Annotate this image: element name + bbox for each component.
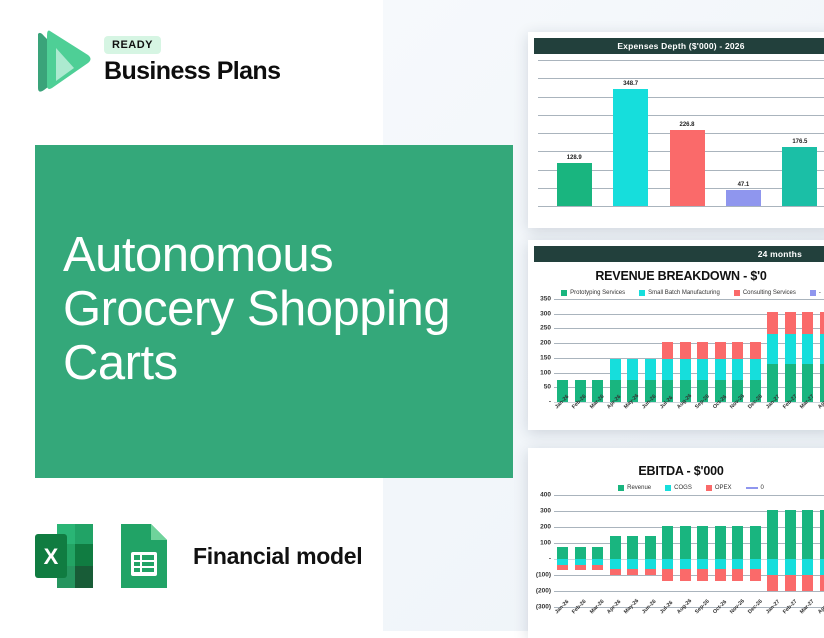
bar-segment (575, 565, 586, 570)
chart-bars (554, 299, 824, 402)
y-axis-tick: (300) (536, 604, 551, 611)
bar-value-label: 128.9 (544, 155, 604, 161)
bar-slot[interactable] (764, 495, 782, 607)
chart-title-ebitda: EBITDA - $'000 (528, 464, 824, 478)
chart-header-expenses: Expenses Depth ($'000) - 2026 (534, 38, 824, 54)
legend-swatch (561, 290, 567, 296)
y-axis-tick: 50 (544, 384, 551, 391)
legend-swatch (810, 290, 816, 296)
bar-segment (645, 569, 656, 575)
bar-segment (732, 342, 743, 360)
y-axis-tick: - (549, 556, 551, 563)
bar-segment (575, 547, 586, 559)
chart-y-axis: 400300200100-(100)(200)(300) (528, 495, 554, 607)
chart-plot-ebitda: 400300200100-(100)(200)(300) (528, 495, 824, 607)
bar-slot[interactable] (782, 495, 800, 607)
bar-slot[interactable] (554, 495, 572, 607)
bar-segment (767, 559, 778, 575)
bar-segment (627, 559, 638, 569)
bar-segment (802, 510, 813, 559)
bar-slot[interactable] (694, 495, 712, 607)
bar-segment (697, 569, 708, 581)
legend-item[interactable]: 0 (746, 485, 764, 491)
chart-header-revenue: 24 months (534, 246, 824, 262)
bar-segment (680, 569, 691, 581)
y-axis-tick: 300 (540, 508, 551, 515)
chart-card-revenue[interactable]: 24 months REVENUE BREAKDOWN - $'0 Protot… (528, 240, 824, 430)
footer-label: Financial model (193, 543, 362, 570)
bar-segment (785, 575, 796, 591)
bar-slot[interactable] (782, 299, 800, 402)
svg-text:X: X (44, 544, 59, 569)
bar-slot[interactable] (554, 299, 572, 402)
bar-slot[interactable] (747, 495, 765, 607)
bar-segment (767, 575, 778, 591)
bar-slot[interactable] (677, 299, 695, 402)
y-axis-tick: 100 (540, 369, 551, 376)
chart-legend-revenue: Prototyping ServicesSmall Batch Manufact… (528, 290, 824, 296)
bar-segment (767, 312, 778, 334)
bar-slot[interactable] (572, 299, 590, 402)
bar-segment (750, 569, 761, 581)
bar-segment (715, 526, 726, 559)
bar-slot[interactable] (799, 299, 817, 402)
y-axis-tick: (100) (536, 572, 551, 579)
bar-segment (610, 359, 621, 380)
brand-logo: READY Business Plans (30, 28, 280, 94)
chart-bars: 128.9348.7226.847.1176.5 (546, 60, 824, 218)
bar-segment (820, 575, 824, 591)
bar-segment (697, 359, 708, 380)
bar-segment (610, 559, 621, 569)
bar (613, 89, 648, 206)
y-axis-tick: 150 (540, 354, 551, 361)
chart-x-axis: Jan-26Feb-26Mar-26Apr-26May-26Jun-26Jul-… (554, 609, 824, 617)
bar-segment (750, 526, 761, 559)
bar-segment (767, 510, 778, 559)
bar-segment (715, 569, 726, 581)
y-axis-tick: 200 (540, 524, 551, 531)
bar-slot[interactable] (764, 299, 782, 402)
bar-slot[interactable]: 226.8 (659, 60, 715, 218)
bar-slot[interactable] (659, 299, 677, 402)
bar-slot[interactable] (589, 495, 607, 607)
bar-slot[interactable]: 47.1 (715, 60, 771, 218)
bar-segment (820, 364, 824, 402)
bar-segment (802, 559, 813, 575)
y-axis-tick: 250 (540, 325, 551, 332)
bar-slot[interactable] (624, 299, 642, 402)
bar-slot[interactable] (572, 495, 590, 607)
chart-plot-revenue: 35030025020015010050- (528, 299, 824, 402)
bar-segment (627, 569, 638, 575)
bar-segment (697, 526, 708, 559)
microsoft-excel-icon: X (33, 522, 95, 590)
legend-item[interactable]: Prototyping Services (561, 290, 625, 296)
legend-swatch (746, 487, 758, 489)
bar-slot[interactable] (747, 299, 765, 402)
y-axis-tick: 300 (540, 310, 551, 317)
bar-segment (802, 575, 813, 591)
bar-segment (645, 536, 656, 559)
bar-segment (732, 559, 743, 569)
bar-segment (645, 359, 656, 380)
bar-slot[interactable] (642, 299, 660, 402)
brand-name: Business Plans (104, 57, 280, 86)
y-axis-tick: 400 (540, 492, 551, 499)
bar (557, 163, 592, 206)
bar-slot[interactable] (642, 495, 660, 607)
bar-value-label: 47.1 (713, 182, 773, 188)
legend-label: 0 (761, 485, 764, 491)
bar-slot[interactable] (677, 495, 695, 607)
bar-segment (680, 526, 691, 559)
legend-label: COGS (674, 485, 692, 491)
legend-item[interactable]: - (810, 290, 821, 296)
bar-segment (662, 359, 673, 380)
bar-slot[interactable] (817, 495, 824, 607)
bar-segment (715, 342, 726, 360)
bar-slot[interactable] (694, 299, 712, 402)
bar-slot[interactable] (589, 299, 607, 402)
bar-segment (767, 334, 778, 365)
bar-segment (697, 342, 708, 360)
bar-segment (680, 342, 691, 360)
bar-segment (820, 334, 824, 365)
y-axis-tick: 100 (540, 540, 551, 547)
bar-segment (715, 359, 726, 380)
legend-swatch (639, 290, 645, 296)
bar (726, 190, 761, 206)
chart-card-expenses[interactable]: Expenses Depth ($'000) - 2026 128.9348.7… (528, 32, 824, 228)
bar-segment (557, 565, 568, 570)
bar-value-label: 348.7 (601, 81, 661, 87)
legend-item[interactable]: Consulting Services (734, 290, 796, 296)
bar-slot[interactable]: 128.9 (546, 60, 602, 218)
legend-swatch (618, 485, 624, 491)
google-sheets-icon (113, 522, 175, 590)
bar-segment (820, 559, 824, 575)
bar-slot[interactable] (712, 299, 730, 402)
bar-segment (732, 526, 743, 559)
legend-label: - (819, 290, 821, 296)
bar (670, 130, 705, 206)
legend-item[interactable]: COGS (665, 485, 692, 491)
bar-segment (592, 547, 603, 559)
play-logo-icon (30, 28, 92, 94)
legend-item[interactable]: Small Batch Manufacturing (639, 290, 720, 296)
bar-segment (697, 559, 708, 569)
legend-label: OPEX (715, 485, 732, 491)
bar-value-label: 226.8 (657, 122, 717, 128)
legend-item[interactable]: Revenue (618, 485, 651, 491)
chart-x-axis: Jan-26Feb-26Mar-26Apr-26May-26Jun-26Jul-… (554, 404, 824, 412)
bar-slot[interactable] (712, 495, 730, 607)
legend-label: Revenue (627, 485, 651, 491)
bar-slot[interactable]: 176.5 (772, 60, 824, 218)
bar-segment (785, 510, 796, 559)
bar-segment (627, 536, 638, 559)
bar-segment (592, 565, 603, 570)
bar-slot[interactable] (799, 495, 817, 607)
y-axis-tick: - (549, 399, 551, 406)
bar-segment (820, 312, 824, 334)
bar-slot[interactable] (729, 299, 747, 402)
legend-swatch (706, 485, 712, 491)
y-axis-tick: (200) (536, 588, 551, 595)
brand-text: READY Business Plans (104, 36, 280, 86)
bar-segment (750, 342, 761, 360)
bar-segment (610, 569, 621, 575)
bar-segment (645, 559, 656, 569)
bar-slot[interactable] (607, 495, 625, 607)
bar-slot[interactable] (817, 299, 824, 402)
bar-segment (662, 569, 673, 581)
bar-slot[interactable] (607, 299, 625, 402)
page-title: Autonomous Grocery Shopping Carts (63, 228, 493, 390)
y-axis-tick: 350 (540, 296, 551, 303)
legend-label: Prototyping Services (570, 290, 625, 296)
bar-segment (785, 334, 796, 365)
bar-slot[interactable] (624, 495, 642, 607)
bar-slot[interactable] (729, 495, 747, 607)
bar-slot[interactable] (659, 495, 677, 607)
bar-segment (662, 526, 673, 559)
chart-legend-ebitda: RevenueCOGSOPEX0 (528, 485, 824, 491)
chart-title-revenue: REVENUE BREAKDOWN - $'0 (528, 269, 824, 283)
bar-segment (750, 559, 761, 569)
bar-segment (732, 569, 743, 581)
ready-badge: READY (104, 36, 161, 54)
bar-segment (802, 312, 813, 334)
bar-segment (785, 312, 796, 334)
bar-segment (662, 342, 673, 360)
bar-segment (627, 359, 638, 380)
legend-label: Small Batch Manufacturing (648, 290, 720, 296)
bar-segment (557, 547, 568, 559)
legend-label: Consulting Services (743, 290, 796, 296)
bar (782, 147, 817, 206)
bar-segment (680, 559, 691, 569)
bar-segment (802, 334, 813, 365)
bar-segment (662, 559, 673, 569)
chart-bars (554, 495, 824, 607)
legend-item[interactable]: OPEX (706, 485, 732, 491)
bar-segment (785, 559, 796, 575)
footer-row: X Financial model (33, 522, 362, 590)
y-axis-tick: 200 (540, 340, 551, 347)
chart-plot-expenses: 128.9348.7226.847.1176.5 (528, 60, 824, 218)
bar-segment (610, 536, 621, 559)
bar-segment (680, 359, 691, 380)
legend-swatch (734, 290, 740, 296)
bar-segment (820, 510, 824, 559)
bar-value-label: 176.5 (770, 139, 824, 145)
legend-swatch (665, 485, 671, 491)
bar-segment (715, 559, 726, 569)
bar-segment (750, 359, 761, 380)
chart-card-ebitda[interactable]: EBITDA - $'000 RevenueCOGSOPEX0 40030020… (528, 448, 824, 638)
bar-slot[interactable]: 348.7 (602, 60, 658, 218)
chart-y-axis: 35030025020015010050- (528, 299, 554, 402)
bar-segment (732, 359, 743, 380)
